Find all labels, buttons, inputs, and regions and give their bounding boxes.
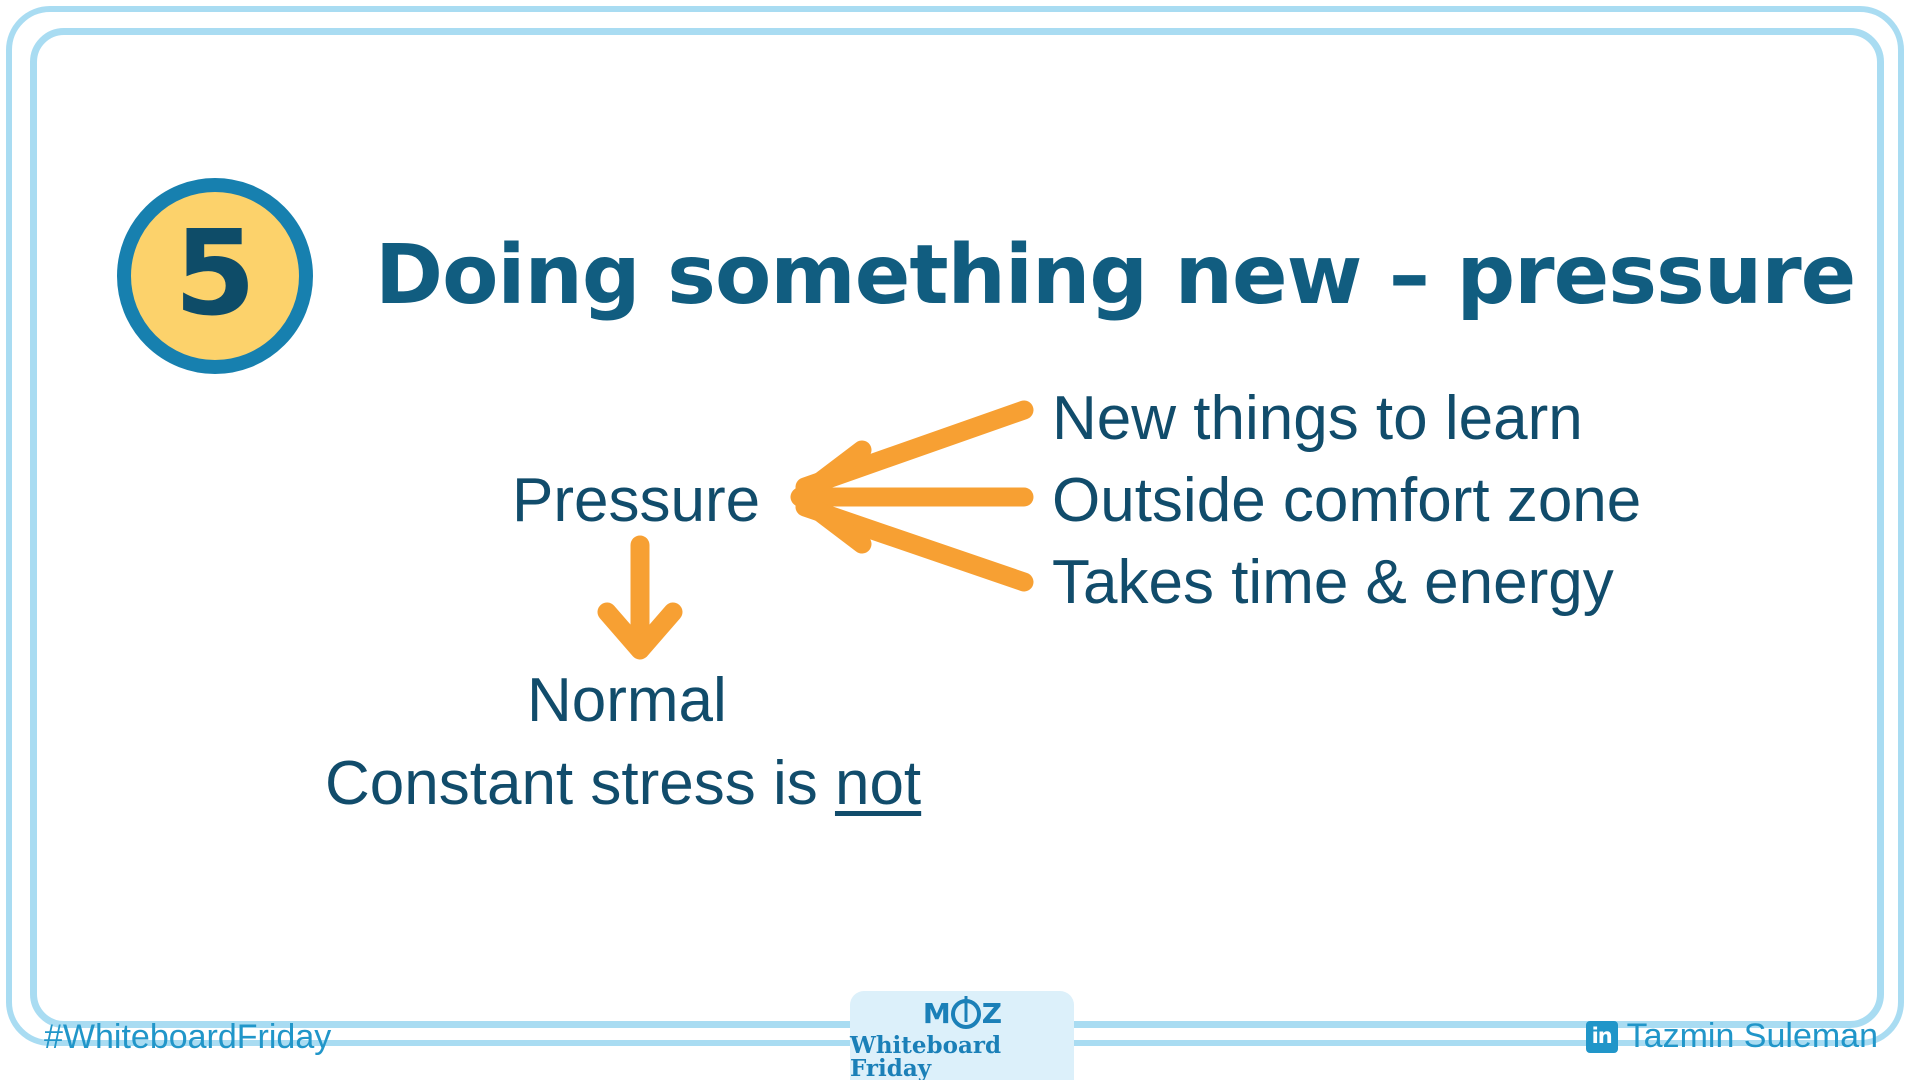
arrow-head-left-icon bbox=[800, 450, 862, 544]
page-title: Doing something new – pressure bbox=[375, 228, 1855, 323]
whiteboard-slide: 5 Doing something new – pressure Pressur… bbox=[0, 0, 1920, 1080]
list-item: Takes time & energy bbox=[1052, 542, 1641, 624]
moz-tagline-label: Whiteboard Friday bbox=[850, 1034, 1074, 1080]
moz-letter-o-icon bbox=[951, 999, 981, 1029]
converging-arrow-icon bbox=[805, 410, 1024, 582]
moz-letter-m: M bbox=[923, 1000, 950, 1028]
step-number-label: 5 bbox=[174, 214, 256, 332]
arrow-branch-top bbox=[805, 410, 1024, 487]
outcome-emphasis-not: not bbox=[835, 749, 921, 818]
outcome-prefix-text: Constant stress is bbox=[325, 749, 835, 818]
causes-list: New things to learn Outside comfort zone… bbox=[1052, 378, 1641, 624]
moz-whiteboard-friday-badge: MZ Whiteboard Friday bbox=[850, 991, 1074, 1080]
hashtag-label: #WhiteboardFriday bbox=[44, 1018, 331, 1057]
moz-letter-z: Z bbox=[982, 1000, 1001, 1028]
down-arrow-icon bbox=[607, 545, 673, 650]
list-item: New things to learn bbox=[1052, 378, 1641, 460]
outcome-constant-stress-label: Constant stress is not bbox=[325, 748, 921, 819]
author-name-label: Tazmin Suleman bbox=[1627, 1017, 1878, 1056]
outcome-normal-label: Normal bbox=[527, 665, 727, 736]
step-number-badge: 5 bbox=[117, 178, 313, 374]
list-item: Outside comfort zone bbox=[1052, 460, 1641, 542]
moz-logo-wordmark: MZ bbox=[923, 999, 1001, 1029]
arrow-branch-bottom bbox=[805, 507, 1024, 582]
down-arrow-head bbox=[607, 612, 673, 650]
author-credit[interactable]: in Tazmin Suleman bbox=[1586, 1017, 1878, 1056]
linkedin-icon[interactable]: in bbox=[1586, 1021, 1618, 1053]
pressure-label: Pressure bbox=[512, 465, 760, 536]
